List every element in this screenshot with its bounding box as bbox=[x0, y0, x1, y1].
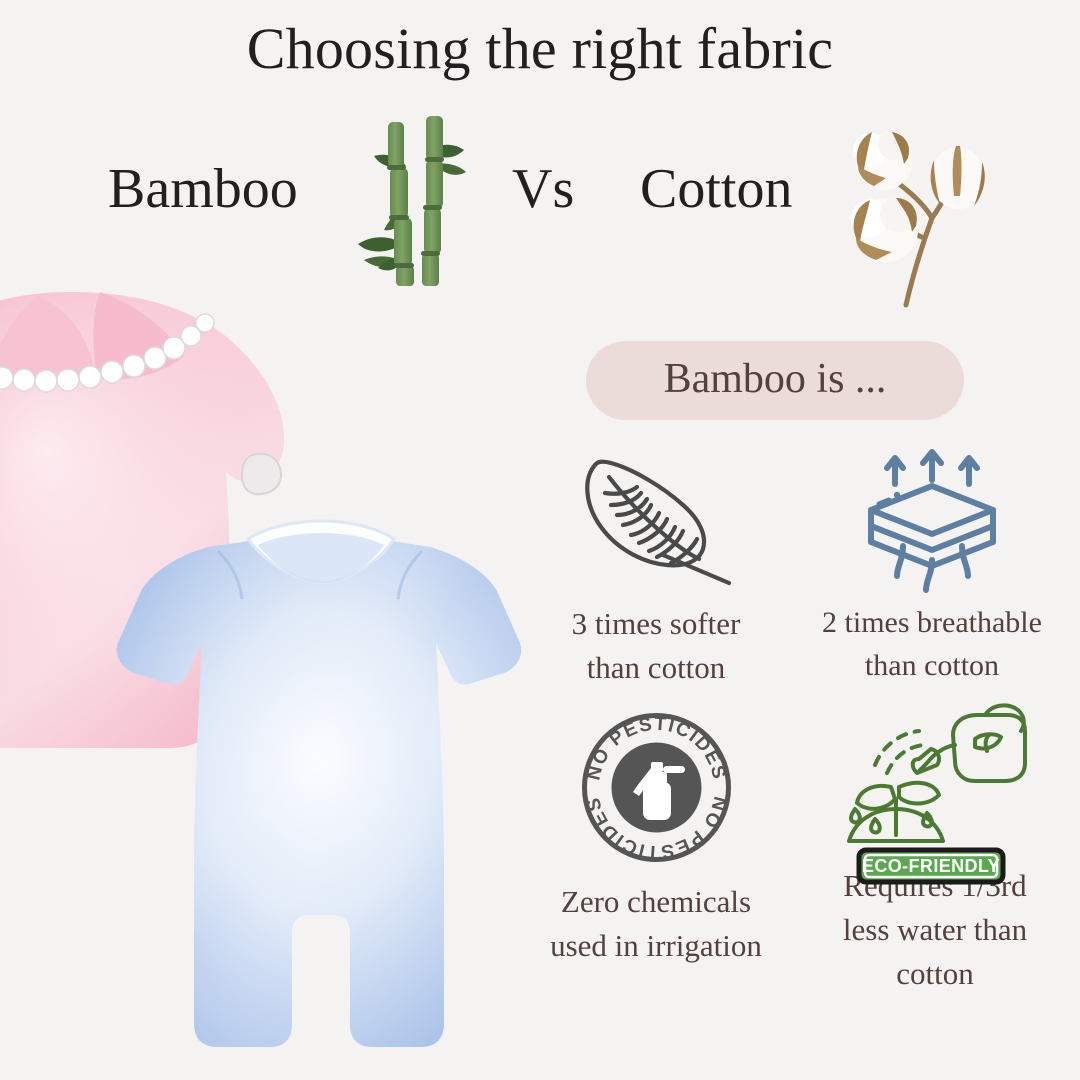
benefit-breathable-caption: 2 times breathable than cotton bbox=[782, 602, 1080, 687]
blue-baby-romper-illustration bbox=[100, 503, 540, 1063]
no-pesticides-stamp-icon-wrap: NO PESTICIDES NO PESTICIDES bbox=[508, 706, 804, 868]
bamboo-stalks-icon bbox=[344, 108, 480, 288]
page-title: Choosing the right fabric bbox=[0, 18, 1080, 81]
comparison-right-label: Cotton bbox=[640, 161, 792, 217]
eco-friendly-badge-label: ECO-FRIENDLY bbox=[862, 856, 1000, 876]
benefit-chemicals: NO PESTICIDES NO PESTICIDES Zero chemica… bbox=[508, 706, 804, 968]
comparison-left-label: Bamboo bbox=[108, 161, 298, 217]
eco-friendly-badge: ECO-FRIENDLY bbox=[856, 846, 1006, 891]
watering-can-sprout-icon-wrap bbox=[790, 700, 1080, 862]
no-pesticides-stamp-icon: NO PESTICIDES NO PESTICIDES bbox=[579, 710, 734, 865]
feather-icon bbox=[571, 451, 741, 591]
eco-friendly-badge-svg: ECO-FRIENDLY bbox=[856, 846, 1006, 886]
benefit-softer-caption: 3 times softer than cotton bbox=[508, 602, 804, 690]
benefit-softer: 3 times softer than cotton bbox=[508, 446, 804, 690]
infographic-canvas: Choosing the right fabric Bamboo Vs Cott… bbox=[0, 0, 1080, 1080]
feather-icon-wrap bbox=[508, 446, 804, 596]
bamboo-is-badge-label: Bamboo is ... bbox=[664, 358, 887, 404]
comparison-separator: Vs bbox=[512, 161, 574, 217]
breathable-layers-icon bbox=[857, 448, 1007, 594]
watering-can-sprout-icon bbox=[835, 701, 1035, 861]
benefit-chemicals-caption: Zero chemicals used in irrigation bbox=[508, 880, 804, 968]
breathable-layers-icon-wrap bbox=[782, 446, 1080, 596]
benefit-breathable: 2 times breathable than cotton bbox=[782, 446, 1080, 687]
cotton-branch-icon bbox=[828, 100, 1008, 315]
bamboo-is-badge: Bamboo is ... bbox=[586, 341, 964, 420]
